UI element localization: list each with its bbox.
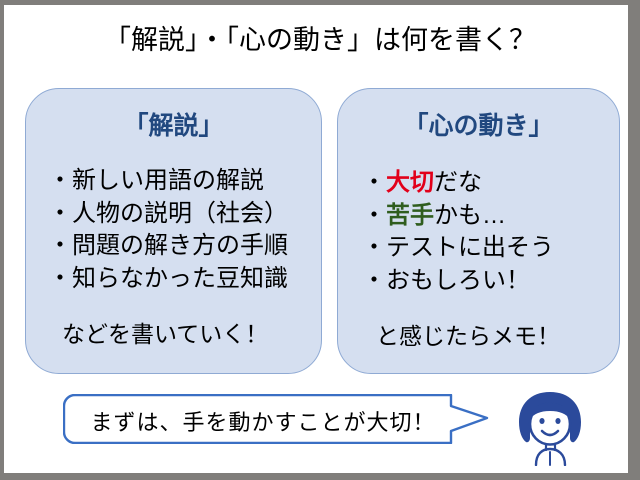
list-item: ・問題の解き方の手順	[48, 230, 288, 263]
list-item-highlight: 大切	[386, 169, 434, 196]
list-item-rest: おもしろい！	[386, 267, 530, 294]
list-bullet: ・	[362, 234, 386, 261]
list-item: ・知らなかった豆知識	[48, 263, 288, 296]
list-item-highlight: 苦手	[386, 202, 434, 229]
list-item-rest: テストに出そう	[386, 234, 554, 261]
panel-kaisetsu: 「解説」 ・新しい用語の解説 ・人物の説明（社会） ・問題の解き方の手順 ・知ら…	[25, 88, 322, 374]
list-item: ・テストに出そう	[362, 232, 554, 265]
panel-kokoro-header: 「心の動き」	[338, 106, 619, 142]
page-title: 「解説」・「心の動き」は何を書く？	[0, 24, 640, 56]
list-bullet: ・	[362, 267, 386, 294]
list-bullet: ・	[362, 202, 386, 229]
panel-kokoro: 「心の動き」 ・大切だな ・苦手かも… ・テストに出そう ・おもしろい！ と感じ…	[337, 88, 620, 374]
smiling-girl-icon	[508, 386, 592, 466]
panel-kaisetsu-footnote: などを書いていく！	[62, 315, 268, 349]
list-bullet: ・	[362, 169, 386, 196]
list-item: ・おもしろい！	[362, 265, 554, 298]
list-item-rest: だな	[434, 169, 482, 196]
slide-canvas: 「解説」・「心の動き」は何を書く？ 「解説」 ・新しい用語の解説 ・人物の説明（…	[0, 0, 640, 480]
panel-kaisetsu-list: ・新しい用語の解説 ・人物の説明（社会） ・問題の解き方の手順 ・知らなかった豆…	[48, 165, 288, 296]
list-item: ・人物の説明（社会）	[48, 198, 288, 231]
speech-bubble-text: まずは、手を動かすことが大切！	[63, 405, 463, 437]
panel-kokoro-list: ・大切だな ・苦手かも… ・テストに出そう ・おもしろい！	[362, 167, 554, 298]
panel-kaisetsu-header: 「解説」	[26, 106, 321, 142]
speech-bubble: まずは、手を動かすことが大切！	[63, 394, 496, 444]
list-item: ・大切だな	[362, 167, 554, 200]
list-item-rest: かも…	[434, 202, 506, 229]
list-item: ・新しい用語の解説	[48, 165, 288, 198]
list-item: ・苦手かも…	[362, 200, 554, 233]
panel-kokoro-footnote: と感じたらメモ！	[376, 317, 560, 351]
